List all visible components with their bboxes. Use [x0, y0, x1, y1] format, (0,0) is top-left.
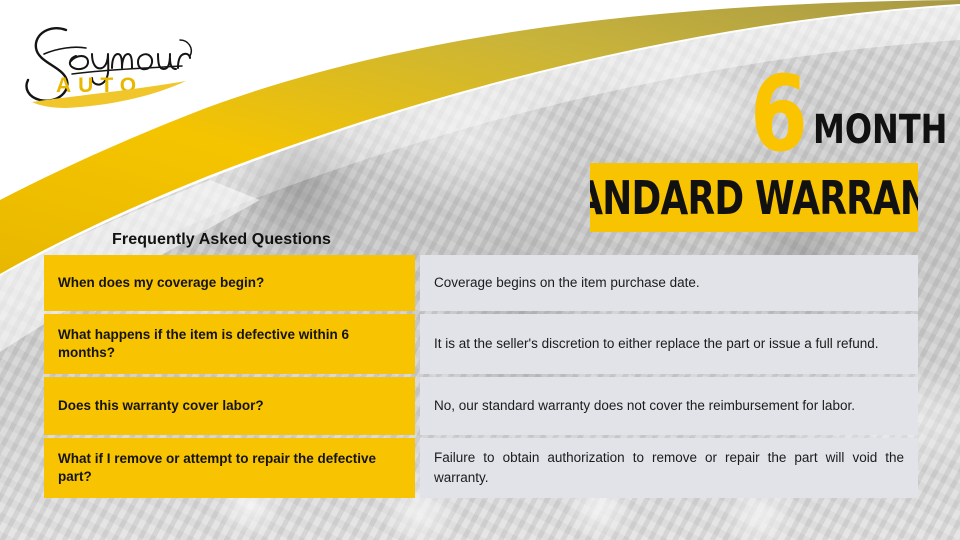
table-row: What if I remove or attempt to repair th…	[44, 438, 918, 498]
warranty-month-label: MONTH	[813, 110, 947, 150]
faq-answer-cell: It is at the seller's discretion to eith…	[420, 314, 918, 374]
faq-question-cell: Does this warranty cover labor?	[44, 377, 415, 435]
faq-question-text: Does this warranty cover labor?	[58, 397, 264, 415]
faq-answer-text: Failure to obtain authorization to remov…	[434, 448, 904, 487]
faq-question-text: What if I remove or attempt to repair th…	[58, 450, 401, 486]
faq-question-cell: What happens if the item is defective wi…	[44, 314, 415, 374]
warranty-months-number: 6	[750, 71, 806, 158]
table-row: Does this warranty cover labor? No, our …	[44, 377, 918, 435]
faq-answer-text: No, our standard warranty does not cover…	[434, 396, 904, 416]
faq-table: When does my coverage begin? Coverage be…	[44, 255, 918, 498]
faq-answer-cell: No, our standard warranty does not cover…	[420, 377, 918, 435]
seymour-auto-logo: AUTO	[14, 18, 204, 110]
faq-answer-text: Coverage begins on the item purchase dat…	[434, 273, 904, 293]
warranty-duration-block: 6 MONTH	[588, 52, 920, 156]
faq-heading: Frequently Asked Questions	[112, 231, 331, 249]
faq-answer-cell: Failure to obtain authorization to remov…	[420, 438, 918, 498]
faq-answer-text: It is at the seller's discretion to eith…	[434, 334, 904, 354]
standard-warranty-banner-text: STANDARD WARRANTY	[590, 175, 918, 221]
faq-question-text: What happens if the item is defective wi…	[58, 326, 401, 362]
faq-question-cell: What if I remove or attempt to repair th…	[44, 438, 415, 498]
standard-warranty-banner: STANDARD WARRANTY	[590, 163, 918, 232]
faq-question-cell: When does my coverage begin?	[44, 255, 415, 311]
table-row: When does my coverage begin? Coverage be…	[44, 255, 918, 311]
faq-question-text: When does my coverage begin?	[58, 274, 264, 292]
slide-canvas: AUTO 6 MONTH STANDARD WARRANTY Frequentl…	[0, 0, 960, 540]
table-row: What happens if the item is defective wi…	[44, 314, 918, 374]
faq-answer-cell: Coverage begins on the item purchase dat…	[420, 255, 918, 311]
